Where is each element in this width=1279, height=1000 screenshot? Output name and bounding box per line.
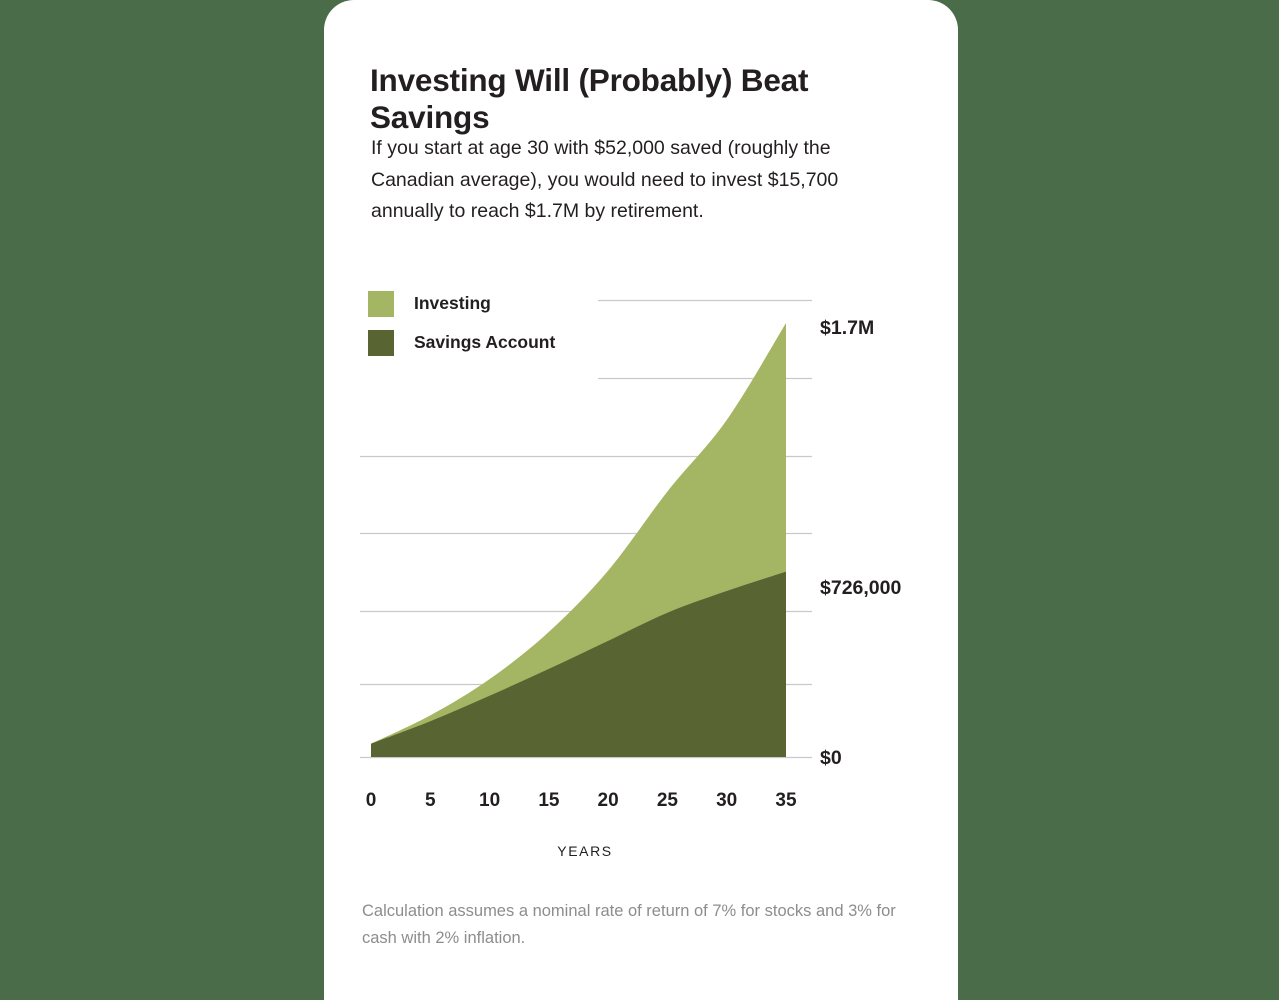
legend-swatch-investing	[368, 291, 394, 317]
x-tick-3: 15	[538, 790, 559, 812]
y-axis-label-zero: $0	[820, 747, 842, 770]
x-axis-title: YEARS	[360, 843, 810, 859]
area-series-savings	[371, 572, 786, 757]
x-tick-1: 5	[425, 790, 436, 812]
legend-label-savings-account: Savings Account	[414, 332, 555, 353]
x-tick-0: 0	[366, 790, 377, 812]
chart-legend: Investing Savings Account	[368, 284, 668, 362]
x-axis-ticks: 0 5 10 15 20 25 30 35	[360, 790, 810, 816]
legend-swatch-savings-account	[368, 330, 394, 356]
legend-item-savings-account[interactable]: Savings Account	[368, 323, 668, 362]
legend-item-investing[interactable]: Investing	[368, 284, 668, 323]
chart-footnote: Calculation assumes a nominal rate of re…	[362, 898, 902, 952]
x-tick-4: 20	[598, 790, 619, 812]
x-tick-2: 10	[479, 790, 500, 812]
x-tick-6: 30	[716, 790, 737, 812]
chart-card: Investing Will (Probably) Beat Savings I…	[324, 0, 958, 1000]
x-tick-5: 25	[657, 790, 678, 812]
x-tick-7: 35	[775, 790, 796, 812]
y-axis-label-mid: $726,000	[820, 577, 901, 600]
legend-label-investing: Investing	[414, 293, 491, 314]
y-axis-label-top: $1.7M	[820, 317, 874, 340]
